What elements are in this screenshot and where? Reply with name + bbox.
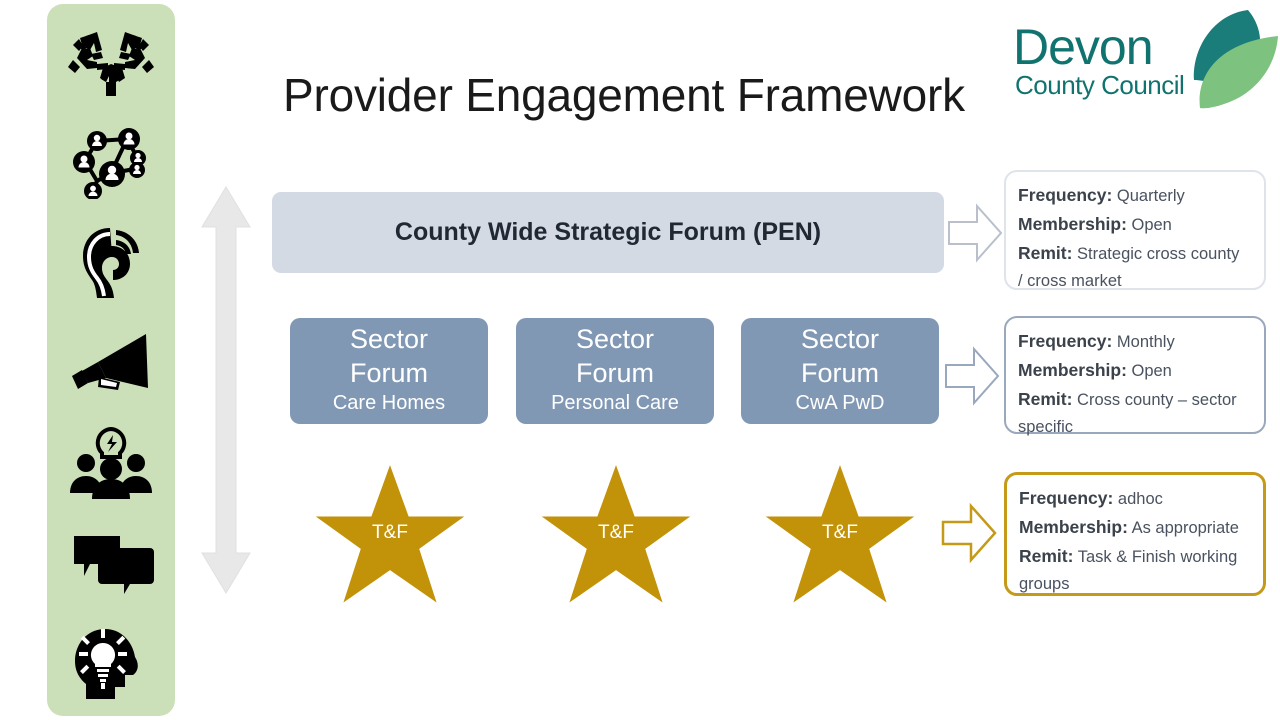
callout-frequency-label: Frequency: [1018,185,1112,205]
sector-forum-line2: Forum [576,356,654,390]
callout-membership-row: Membership: Open [1018,356,1254,385]
callout-remit-continued: groups [1019,571,1253,597]
right-arrow-icon-gold [941,502,997,564]
callout-task-finish: Frequency: adhoc Membership: As appropri… [1004,472,1266,596]
devon-county-council-logo: Devon County Council [1011,8,1279,116]
callout-membership-label: Membership: [1018,360,1127,380]
team-idea-icon [65,427,157,499]
callout-frequency-value: Monthly [1117,333,1175,351]
icon-rail [47,4,175,716]
callout-frequency-row: Frequency: Monthly [1018,327,1254,356]
callout-strategic-forum: Frequency: Quarterly Membership: Open Re… [1004,170,1266,290]
callout-frequency-row: Frequency: Quarterly [1018,181,1254,210]
right-arrow-icon-blue [944,345,1000,407]
sector-forum-care-homes[interactable]: Sector Forum Care Homes [290,318,488,424]
up-down-arrow-icon [200,185,252,595]
star-icon [292,462,488,612]
task-finish-star[interactable]: T&F [292,462,488,612]
callout-remit-label: Remit: [1018,389,1072,409]
callout-remit-row: Remit: Cross county – sector [1018,385,1254,414]
people-network-icon [65,126,157,198]
sector-forum-cwa-pwd[interactable]: Sector Forum CwA PwD [741,318,939,424]
sector-forum-line1: Sector [350,322,428,356]
right-arrow-icon-grey [947,202,1003,264]
callout-frequency-value: Quarterly [1117,187,1185,205]
callout-frequency-label: Frequency: [1019,488,1113,508]
slide-canvas: Provider Engagement Framework Devon Coun… [0,0,1280,720]
page-title: Provider Engagement Framework [283,68,1003,122]
callout-membership-value: Open [1132,362,1172,380]
megaphone-icon [65,327,157,399]
hands-together-icon [65,26,157,98]
head-lightbulb-icon [65,628,157,700]
callout-remit-continued: / cross market [1018,268,1254,294]
task-finish-star[interactable]: T&F [742,462,938,612]
sector-forum-line1: Sector [576,322,654,356]
callout-frequency-value: adhoc [1118,490,1163,508]
star-icon [518,462,714,612]
callout-remit-label: Remit: [1018,243,1072,263]
callout-remit-row: Remit: Task & Finish working [1019,542,1253,571]
callout-frequency-row: Frequency: adhoc [1019,484,1253,513]
speech-bubbles-icon [65,528,157,600]
sector-forum-subtitle: Care Homes [333,390,445,416]
star-icon [742,462,938,612]
callout-remit-value: Task & Finish working [1078,548,1238,566]
callout-remit-label: Remit: [1019,546,1073,566]
sector-forum-line2: Forum [801,356,879,390]
sector-forum-subtitle: Personal Care [551,390,679,416]
callout-membership-label: Membership: [1019,517,1128,537]
sector-forum-line2: Forum [350,356,428,390]
sector-forum-personal-care[interactable]: Sector Forum Personal Care [516,318,714,424]
callout-membership-value: Open [1132,216,1172,234]
callout-remit-value: Cross county – sector [1077,391,1237,409]
pen-box-label: County Wide Strategic Forum (PEN) [395,218,821,247]
callout-membership-label: Membership: [1018,214,1127,234]
callout-remit-continued: specific [1018,414,1254,440]
callout-frequency-label: Frequency: [1018,331,1112,351]
callout-remit-value: Strategic cross county [1077,245,1239,263]
leaf-icon [1186,8,1280,112]
task-finish-star[interactable]: T&F [518,462,714,612]
callout-membership-row: Membership: As appropriate [1019,513,1253,542]
sector-forum-line1: Sector [801,322,879,356]
sector-forum-subtitle: CwA PwD [796,390,885,416]
callout-remit-row: Remit: Strategic cross county [1018,239,1254,268]
logo-word-county-council: County Council [1015,72,1184,98]
logo-word-devon: Devon [1013,22,1153,72]
callout-sector-forum: Frequency: Monthly Membership: Open Remi… [1004,316,1266,434]
county-wide-strategic-forum-box[interactable]: County Wide Strategic Forum (PEN) [272,192,944,273]
callout-membership-row: Membership: Open [1018,210,1254,239]
callout-membership-value: As appropriate [1132,519,1239,537]
ear-listening-icon [65,227,157,299]
